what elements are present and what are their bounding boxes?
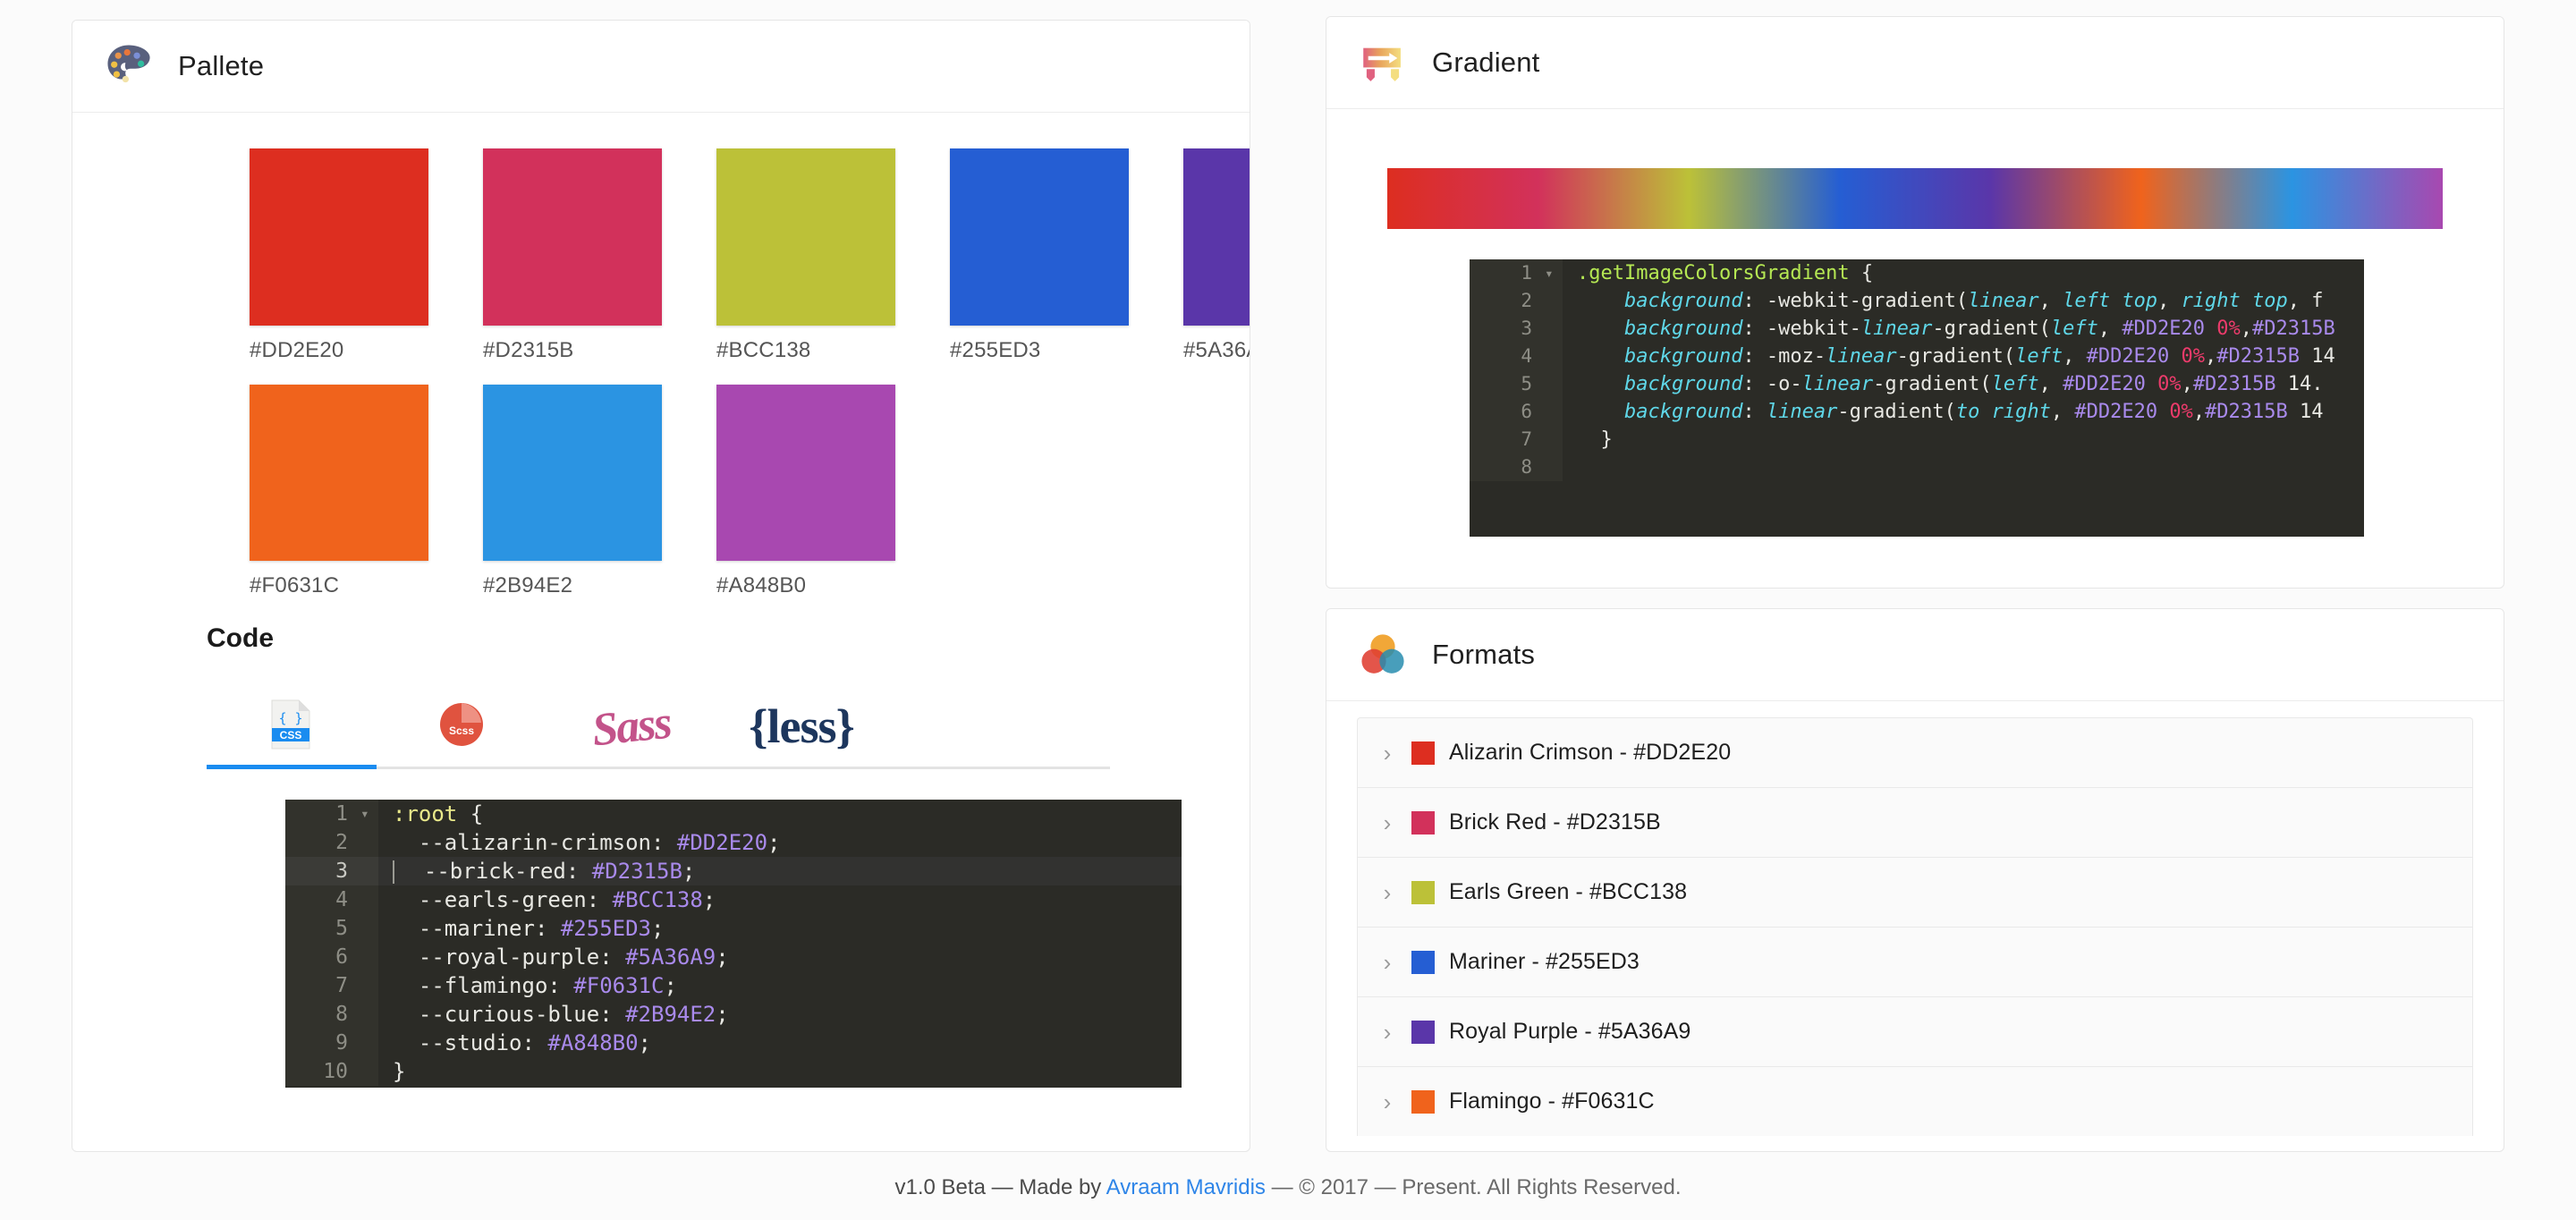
format-color-chip — [1411, 1021, 1435, 1044]
code-line: 9 --studio: #A848B0; — [285, 1029, 1182, 1057]
code-line-text: --royal-purple: #5A36A9; — [378, 943, 729, 971]
code-fold-spacer — [360, 885, 378, 914]
code-line-number: 4 — [1470, 343, 1545, 370]
color-swatch-chip[interactable] — [250, 385, 428, 561]
footer-author-link[interactable]: Avraam Mavridis — [1106, 1175, 1266, 1199]
palette-panel-header: Pallete — [72, 21, 1250, 113]
code-line: 3 --brick-red: #D2315B; — [285, 857, 1182, 885]
code-fold-spacer — [1545, 315, 1563, 343]
code-fold-spacer — [1545, 453, 1563, 481]
code-line: 1▾:root { — [285, 800, 1182, 828]
code-line: 4 --earls-green: #BCC138; — [285, 885, 1182, 914]
code-line-number: 3 — [1470, 315, 1545, 343]
tab-css[interactable]: { }CSS — [207, 686, 377, 767]
color-swatch-chip[interactable] — [483, 148, 662, 326]
svg-text:{ }: { } — [278, 710, 302, 726]
code-line: 3 background: -webkit-linear-gradient(le… — [1470, 315, 2364, 343]
format-list-item[interactable]: ›Royal Purple - #5A36A9 — [1357, 996, 2473, 1066]
color-swatch-label: #DD2E20 — [250, 338, 428, 363]
code-line-text: :root { — [378, 800, 483, 828]
code-line-number: 6 — [1470, 398, 1545, 426]
code-fold-spacer — [360, 943, 378, 971]
code-line: 6 background: linear-gradient(to right, … — [1470, 398, 2364, 426]
code-line-text: --studio: #A848B0; — [378, 1029, 651, 1057]
chevron-right-icon[interactable]: › — [1377, 741, 1397, 765]
color-swatch[interactable]: #D2315B — [483, 148, 662, 363]
code-line: 7 } — [1470, 426, 2364, 453]
code-line-number: 4 — [285, 885, 360, 914]
css-file-icon: { }CSS — [270, 699, 313, 754]
code-line-number: 1 — [1470, 259, 1545, 287]
code-line-text: .getImageColorsGradient { — [1563, 259, 1873, 287]
code-line-number: 3 — [285, 857, 360, 885]
code-fold-spacer — [1545, 398, 1563, 426]
svg-text:Scss: Scss — [449, 724, 474, 737]
chevron-right-icon[interactable]: › — [1377, 951, 1397, 974]
code-line: 6 --royal-purple: #5A36A9; — [285, 943, 1182, 971]
format-list-item[interactable]: ›Mariner - #255ED3 — [1357, 927, 2473, 996]
format-item-label: Mariner - #255ED3 — [1449, 949, 1640, 975]
format-list-item[interactable]: ›Earls Green - #BCC138 — [1357, 857, 2473, 927]
format-list-item[interactable]: ›Alizarin Crimson - #DD2E20 — [1357, 717, 2473, 787]
code-line-number: 2 — [285, 828, 360, 857]
color-swatch-label: #D2315B — [483, 338, 662, 363]
code-line-number: 9 — [285, 1029, 360, 1057]
code-fold-spacer — [360, 857, 378, 885]
code-fold-spacer — [360, 1029, 378, 1057]
formats-venn-icon — [1357, 629, 1409, 681]
code-fold-spacer — [360, 1000, 378, 1029]
chevron-right-icon[interactable]: › — [1377, 1090, 1397, 1114]
swatch-row-secondary: #F0631C#2B94E2#A848B0 — [72, 385, 1250, 598]
svg-text:CSS: CSS — [280, 729, 302, 741]
code-fold-spacer — [1545, 343, 1563, 370]
code-line-number: 8 — [1470, 453, 1545, 481]
code-fold-spacer — [360, 971, 378, 1000]
code-line-number: 2 — [1470, 287, 1545, 315]
format-list-item[interactable]: ›Brick Red - #D2315B — [1357, 787, 2473, 857]
code-format-tabs: { }CSSScssSass{less} — [207, 686, 1110, 769]
color-swatch-label: #255ED3 — [950, 338, 1129, 363]
scss-icon: Scss — [438, 701, 485, 752]
format-color-chip — [1411, 741, 1435, 765]
code-line-text: } — [1563, 426, 1613, 453]
code-line: 10} — [285, 1057, 1182, 1086]
code-fold-spacer — [1545, 287, 1563, 315]
gradient-panel-title: Gradient — [1432, 47, 1540, 79]
code-line-number: 6 — [285, 943, 360, 971]
code-line-number: 5 — [1470, 370, 1545, 398]
code-line: 8 --curious-blue: #2B94E2; — [285, 1000, 1182, 1029]
formats-panel: Formats ›Alizarin Crimson - #DD2E20›Bric… — [1326, 608, 2504, 1152]
code-line-text: background: -o-linear-gradient(left, #DD… — [1563, 370, 2324, 398]
code-line-text: --flamingo: #F0631C; — [378, 971, 677, 1000]
format-color-chip — [1411, 951, 1435, 974]
swatch-grid: #DD2E20#D2315B#BCC138#255ED3#5A36A9 #F06… — [72, 113, 1250, 598]
formats-color-list: ›Alizarin Crimson - #DD2E20›Brick Red - … — [1326, 701, 2504, 1136]
color-swatch[interactable]: #A848B0 — [716, 385, 895, 598]
gradient-panel: Gradient 1▾.getImageColorsGradient {2 ba… — [1326, 16, 2504, 589]
chevron-right-icon[interactable]: › — [1377, 811, 1397, 835]
color-swatch-chip[interactable] — [950, 148, 1129, 326]
code-line-text: --mariner: #255ED3; — [378, 914, 664, 943]
code-line: 2 --alizarin-crimson: #DD2E20; — [285, 828, 1182, 857]
color-swatch-chip[interactable] — [250, 148, 428, 326]
footer-copyright: — © 2017 — Present. All Rights Reserved. — [1272, 1175, 1682, 1199]
palette-panel-body: #DD2E20#D2315B#BCC138#255ED3#5A36A9 #F06… — [72, 113, 1250, 1088]
code-fold-toggle-icon[interactable]: ▾ — [360, 800, 378, 828]
code-line: 8 — [1470, 453, 2364, 481]
chevron-right-icon[interactable]: › — [1377, 881, 1397, 904]
gradient-panel-body: 1▾.getImageColorsGradient {2 background:… — [1326, 168, 2504, 537]
swatch-row-primary: #DD2E20#D2315B#BCC138#255ED3#5A36A9 — [72, 148, 1250, 363]
palette-panel: Pallete #DD2E20#D2315B#BCC138#255ED3#5A3… — [72, 20, 1250, 1152]
color-swatch-label: #BCC138 — [716, 338, 895, 363]
palette-icon — [103, 40, 155, 92]
format-color-chip — [1411, 1090, 1435, 1114]
code-line-number: 7 — [1470, 426, 1545, 453]
code-line-text: } — [378, 1057, 405, 1086]
gradient-icon — [1357, 37, 1409, 89]
css-code-editor[interactable]: 1▾:root {2 --alizarin-crimson: #DD2E20;3… — [285, 800, 1182, 1088]
tab-sass[interactable]: Sass — [547, 686, 716, 767]
format-list-item[interactable]: ›Flamingo - #F0631C — [1357, 1066, 2473, 1136]
sass-icon: Sass — [589, 696, 673, 757]
less-icon: {less} — [749, 699, 854, 754]
code-line: 1▾.getImageColorsGradient { — [1470, 259, 2364, 287]
color-swatch[interactable]: #2B94E2 — [483, 385, 662, 598]
code-line-text: --curious-blue: #2B94E2; — [378, 1000, 729, 1029]
code-heading: Code — [72, 623, 1250, 654]
color-swatch[interactable]: #BCC138 — [716, 148, 895, 363]
footer-version: v1.0 Beta — Made by — [895, 1175, 1102, 1199]
code-line-number: 5 — [285, 914, 360, 943]
code-fold-spacer — [360, 828, 378, 857]
color-swatch[interactable]: #DD2E20 — [250, 148, 428, 363]
color-swatch-label: #5A36A9 — [1183, 338, 1250, 363]
code-line-number: 1 — [285, 800, 360, 828]
format-color-chip — [1411, 811, 1435, 835]
code-fold-spacer — [1545, 370, 1563, 398]
format-item-label: Flamingo - #F0631C — [1449, 1089, 1655, 1114]
format-item-label: Earls Green - #BCC138 — [1449, 879, 1687, 905]
chevron-right-icon[interactable]: › — [1377, 1021, 1397, 1044]
code-line-text: background: -webkit-gradient(linear, lef… — [1563, 287, 2324, 315]
code-line-text: --earls-green: #BCC138; — [378, 885, 716, 914]
format-item-label: Brick Red - #D2315B — [1449, 809, 1661, 835]
gradient-preview-bar — [1387, 168, 2443, 229]
formats-panel-body: ›Alizarin Crimson - #DD2E20›Brick Red - … — [1326, 701, 2504, 1136]
app-root: Pallete #DD2E20#D2315B#BCC138#255ED3#5A3… — [0, 0, 2576, 1220]
code-line-text: background: -webkit-linear-gradient(left… — [1563, 315, 2335, 343]
color-swatch-label: #A848B0 — [716, 573, 895, 598]
code-line-text: background: -moz-linear-gradient(left, #… — [1563, 343, 2335, 370]
color-swatch-chip[interactable] — [716, 385, 895, 561]
code-line-text: --brick-red: #D2315B; — [378, 857, 695, 885]
color-swatch-label: #F0631C — [250, 573, 428, 598]
format-item-label: Alizarin Crimson - #DD2E20 — [1449, 740, 1731, 766]
tab-less[interactable]: {less} — [716, 686, 886, 767]
code-fold-toggle-icon[interactable]: ▾ — [1545, 259, 1563, 287]
code-line-text: --alizarin-crimson: #DD2E20; — [378, 828, 781, 857]
code-line: 2 background: -webkit-gradient(linear, l… — [1470, 287, 2364, 315]
code-line-text: background: linear-gradient(to right, #D… — [1563, 398, 2324, 426]
color-swatch-chip[interactable] — [1183, 148, 1250, 326]
code-line: 4 background: -moz-linear-gradient(left,… — [1470, 343, 2364, 370]
code-section: Code { }CSSScssSass{less} 1▾:root {2 --a… — [72, 623, 1250, 1088]
palette-panel-title: Pallete — [178, 50, 264, 82]
color-swatch[interactable]: #255ED3 — [950, 148, 1129, 363]
code-line-number: 10 — [285, 1057, 360, 1086]
formats-panel-header: Formats — [1326, 609, 2504, 701]
color-swatch-chip[interactable] — [716, 148, 895, 326]
code-fold-spacer — [1545, 426, 1563, 453]
format-item-label: Royal Purple - #5A36A9 — [1449, 1019, 1690, 1045]
color-swatch-label: #2B94E2 — [483, 573, 662, 598]
code-line: 5 background: -o-linear-gradient(left, #… — [1470, 370, 2364, 398]
color-swatch[interactable]: #F0631C — [250, 385, 428, 598]
gradient-code-editor[interactable]: 1▾.getImageColorsGradient {2 background:… — [1470, 259, 2364, 537]
formats-panel-title: Formats — [1432, 639, 1535, 671]
code-line: 7 --flamingo: #F0631C; — [285, 971, 1182, 1000]
code-line-number: 8 — [285, 1000, 360, 1029]
code-fold-spacer — [360, 1057, 378, 1086]
code-line-number: 7 — [285, 971, 360, 1000]
color-swatch-chip[interactable] — [483, 385, 662, 561]
code-fold-spacer — [360, 914, 378, 943]
tab-scss[interactable]: Scss — [377, 686, 547, 767]
color-swatch[interactable]: #5A36A9 — [1183, 148, 1250, 363]
code-line: 5 --mariner: #255ED3; — [285, 914, 1182, 943]
format-color-chip — [1411, 881, 1435, 904]
gradient-panel-header: Gradient — [1326, 17, 2504, 109]
footer: v1.0 Beta — Made by Avraam Mavridis — © … — [0, 1175, 2576, 1200]
